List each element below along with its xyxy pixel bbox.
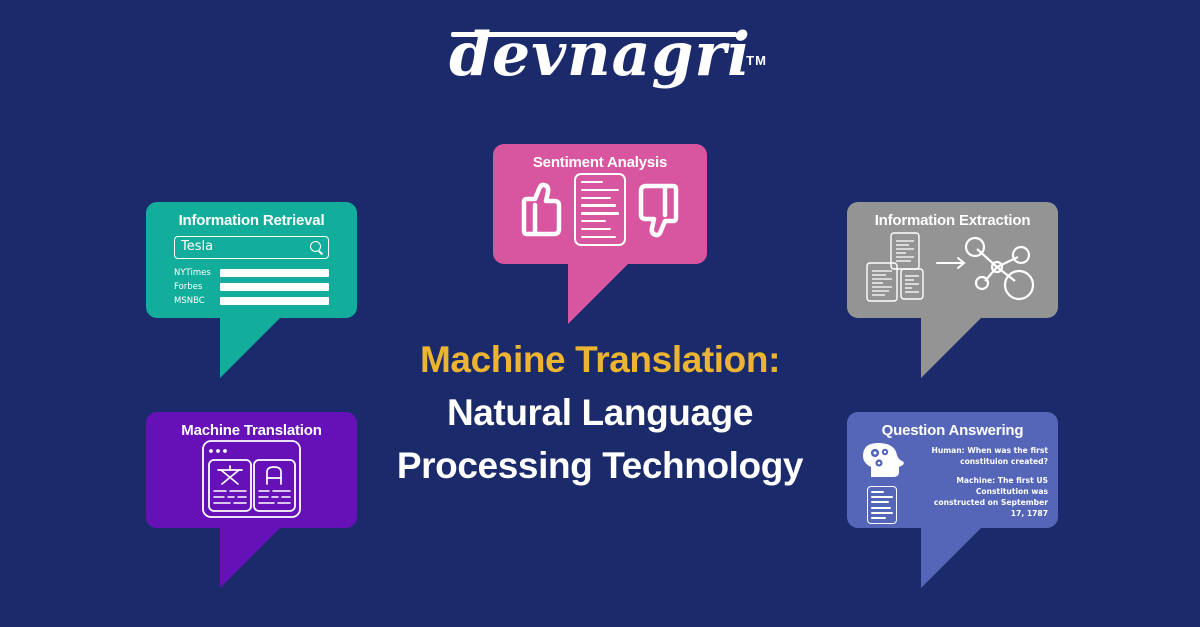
qa-machine-message: Machine: The first US Constitution was c… — [925, 475, 1048, 519]
speech-bubble-tail-question-answering — [921, 526, 983, 588]
doc-text-line — [871, 507, 891, 509]
result-source-label: Forbes — [174, 282, 220, 292]
brand-logo: devnagri TM — [0, 16, 1200, 111]
speech-bubble-tail-information-retrieval — [220, 316, 282, 378]
window-icon — [203, 441, 300, 517]
card-information-retrieval[interactable]: Information Retrieval Tesla NYTimes Forb… — [146, 202, 357, 318]
document-icon — [574, 173, 626, 246]
search-query-text: Tesla — [181, 239, 213, 254]
result-row: NYTimes — [174, 268, 329, 278]
card-information-extraction[interactable]: Information Extraction — [847, 202, 1058, 318]
target-text-lines — [259, 491, 290, 503]
page-title-line-3: Processing Technology — [300, 439, 900, 492]
speech-bubble-tail-machine-translation — [220, 526, 282, 588]
card-sentiment-analysis[interactable]: Sentiment Analysis — [493, 144, 707, 264]
thumbs-down-icon — [633, 181, 679, 239]
doc-text-line — [871, 496, 893, 498]
page-title-line-2: Natural Language — [300, 386, 900, 439]
doc-text-line — [581, 212, 619, 214]
question-answering-transcript: Human: When was the first constituion cr… — [925, 441, 1048, 527]
result-source-label: NYTimes — [174, 268, 220, 278]
devanagari-headline-bar — [451, 32, 737, 37]
doc-text-line — [871, 512, 893, 514]
speech-bubble-tail-information-extraction — [921, 316, 983, 378]
doc-text-line — [581, 236, 616, 238]
sentiment-analysis-icons — [493, 173, 707, 246]
search-icon — [310, 241, 321, 252]
doc-text-line — [581, 197, 611, 199]
speech-bubble-tail-sentiment-analysis — [568, 262, 630, 324]
result-source-label: MSNBC — [174, 296, 220, 306]
trademark-symbol: TM — [746, 22, 767, 100]
card-title-sentiment-analysis: Sentiment Analysis — [493, 144, 707, 171]
result-bar — [220, 269, 329, 277]
source-glyph-cjk — [218, 466, 242, 484]
card-title-information-retrieval: Information Retrieval — [146, 202, 357, 229]
doc-text-line — [581, 204, 616, 206]
result-bar — [220, 283, 329, 291]
information-retrieval-body: Tesla NYTimes Forbes MSNBC — [146, 229, 357, 306]
result-row: MSNBC — [174, 296, 329, 306]
source-text-lines — [214, 491, 246, 503]
arrow-right-icon — [937, 258, 964, 268]
logo-text: devnagri — [449, 20, 751, 90]
result-row: Forbes — [174, 282, 329, 292]
card-title-information-extraction: Information Extraction — [847, 202, 1058, 229]
result-bar — [220, 297, 329, 305]
documents-icon — [867, 233, 923, 301]
search-input[interactable]: Tesla — [174, 236, 329, 259]
poster-canvas: devnagri TM Information Retrieval Tesla … — [0, 0, 1200, 627]
doc-text-line — [581, 181, 603, 183]
thumbs-up-icon — [521, 181, 567, 239]
doc-text-line — [581, 189, 619, 191]
qa-human-message: Human: When was the first constituion cr… — [925, 445, 1048, 467]
doc-text-line — [581, 220, 606, 222]
doc-text-line — [581, 228, 611, 230]
node-graph-icon — [966, 238, 1033, 299]
doc-text-line — [871, 501, 889, 503]
page-title-line-1: Machine Translation: — [300, 333, 900, 386]
logo-wordmark: devnagri TM — [449, 16, 751, 94]
information-extraction-graphic — [847, 229, 1058, 317]
target-glyph-latin — [267, 467, 281, 484]
page-title: Machine Translation: Natural Language Pr… — [300, 333, 900, 492]
doc-text-line — [871, 517, 886, 519]
window-dots-icon — [209, 449, 227, 453]
